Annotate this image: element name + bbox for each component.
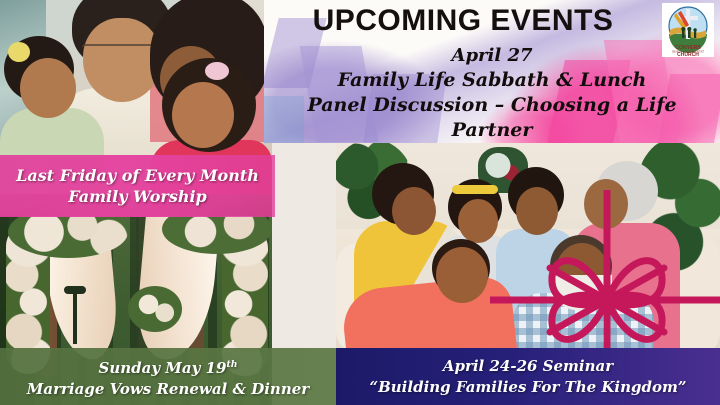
marriage-vows-date: Sunday May 19th xyxy=(99,354,238,379)
header-event-details: April 27 Family Life Sabbath & Lunch Pan… xyxy=(264,44,720,143)
page-title: UPCOMING EVENTS xyxy=(264,4,720,38)
seminar-title: “Building Families For The Kingdom” xyxy=(369,377,686,398)
gift-bow-icon xyxy=(490,190,720,365)
event-subtitle: Panel Discussion – Choosing a Life Partn… xyxy=(264,93,720,143)
marriage-vows-date-text: Sunday May 19 xyxy=(99,359,227,377)
marriage-vows-date-suffix: th xyxy=(226,359,237,370)
father-face xyxy=(436,247,488,303)
band-seminar: April 24-26 Seminar “Building Families F… xyxy=(336,348,720,405)
marriage-vows-title: Marriage Vows Renewal & Dinner xyxy=(27,379,309,400)
family-worship-line2: Family Worship xyxy=(68,186,206,207)
seminar-date: April 24-26 Seminar xyxy=(443,356,613,377)
band-family-worship: Last Friday of Every Month Family Worshi… xyxy=(0,155,275,217)
conyers-church-logo: CONYERS SEVENTH-DAY ADVENTIST CHURCH xyxy=(662,3,714,57)
girl-face xyxy=(172,82,234,148)
floral-centerpiece xyxy=(128,286,182,332)
family-worship-line1: Last Friday of Every Month xyxy=(16,165,259,186)
event-date: April 27 xyxy=(264,44,720,68)
event-name: Family Life Sabbath & Lunch xyxy=(264,68,720,93)
logo-line3: CHURCH xyxy=(677,52,699,56)
upcoming-events-flyer: UPCOMING EVENTS April 27 Family Life Sab… xyxy=(0,0,720,405)
hair-flower-icon xyxy=(205,62,229,80)
header-banner: UPCOMING EVENTS April 27 Family Life Sab… xyxy=(264,0,720,143)
toddler-face xyxy=(20,58,76,118)
band-marriage-vows: Sunday May 19th Marriage Vows Renewal & … xyxy=(0,348,336,405)
mother-face xyxy=(392,187,436,235)
hair-bow-icon xyxy=(8,42,30,62)
flower-stand-pole xyxy=(73,290,77,344)
